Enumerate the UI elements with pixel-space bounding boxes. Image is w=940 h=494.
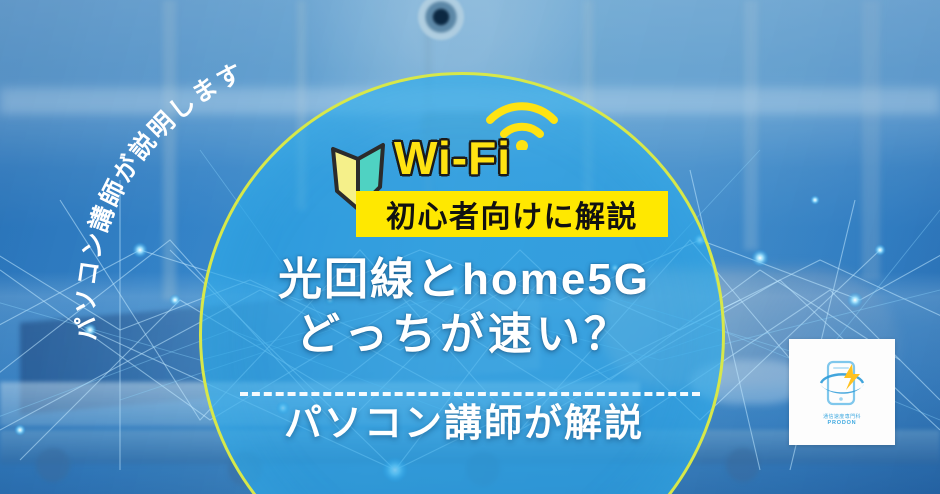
headline-line-1: 光回線とhome5G: [186, 252, 742, 307]
dashed-divider: [240, 392, 700, 396]
headline-line-2: どっちが速い？: [186, 307, 742, 362]
beginner-band: 初心者向けに解説: [356, 191, 668, 237]
brand-logo-card: 通信速度専門科 PRODON: [789, 339, 895, 445]
banner-image: パソコン講師が説明します Wi-Fi 初心者向けに解説 光回線とhome5G ど…: [0, 0, 940, 494]
subtitle: パソコン講師が解説: [186, 400, 742, 448]
logo-en-text: PRODON: [828, 420, 857, 426]
smartphone-lightning-orbit-icon: [814, 358, 870, 410]
logo-jp-text: 通信速度専門科: [823, 413, 861, 420]
wifi-wordmark: Wi-Fi: [394, 130, 574, 186]
headline: 光回線とhome5G どっちが速い？: [186, 252, 742, 362]
beginner-band-text: 初心者向けに解説: [386, 192, 638, 236]
